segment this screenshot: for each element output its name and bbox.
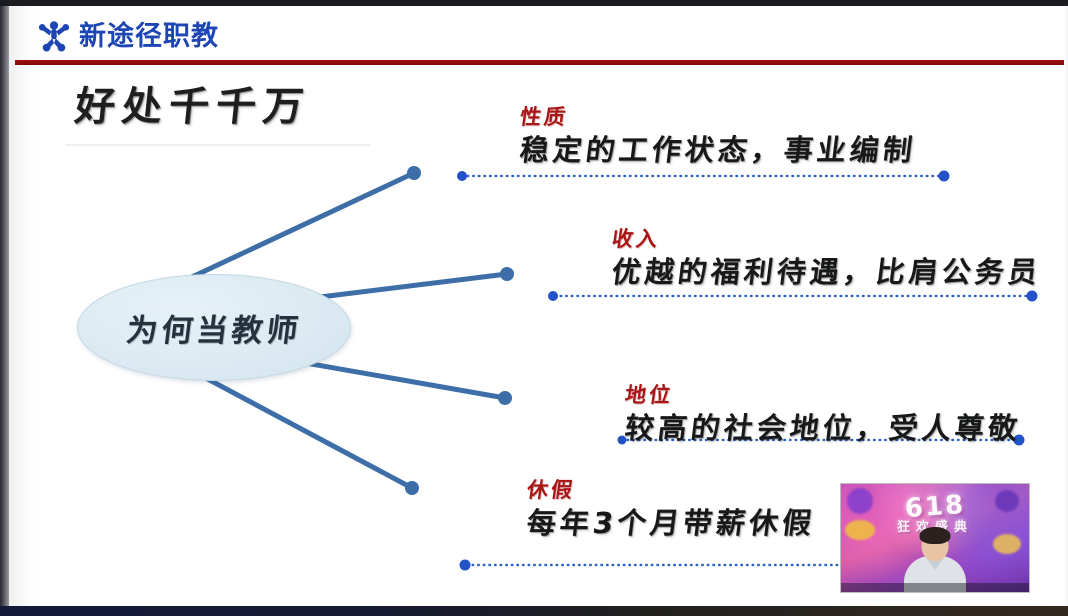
- presentation-screen: 新途径职教 好处千千万: [0, 0, 1068, 616]
- branch-item-2[interactable]: 收入 优越的福利待遇，比肩公务员: [612, 228, 1041, 290]
- slide-right-margin: [1064, 6, 1068, 606]
- dotted-cap-1-start: [457, 171, 467, 181]
- branch-line-4: [187, 368, 412, 488]
- branch-text-4: 每年3个月带薪休假: [525, 505, 818, 541]
- webcam-overlay[interactable]: 618 狂欢盛典: [840, 483, 1030, 593]
- branch-text-2: 优越的福利待遇，比肩公务员: [610, 254, 1043, 290]
- center-node-label: 为何当教师: [124, 305, 305, 350]
- branch-endpoint-4: [405, 481, 419, 495]
- branch-tag-1: 性质: [518, 106, 917, 129]
- window-bottom-edge: [0, 606, 1068, 616]
- dotted-cap-1-end: [939, 171, 950, 182]
- branch-text-3: 较高的社会地位，受人尊敬: [623, 410, 1023, 446]
- branch-tag-3: 地位: [623, 384, 1022, 407]
- slide-left-margin: [9, 6, 37, 606]
- window-left-edge: [0, 6, 9, 606]
- dotted-cap-2-end: [1027, 291, 1038, 302]
- dotted-cap-2-start: [548, 291, 558, 301]
- branch-endpoint-1: [407, 166, 421, 180]
- branch-endpoint-3: [498, 391, 512, 405]
- branch-item-4[interactable]: 休假 每年3个月带薪休假: [527, 479, 815, 541]
- branch-text-1: 稳定的工作状态，事业编制: [518, 132, 918, 168]
- webcam-desk: [841, 583, 1029, 592]
- decor-blob-3-icon: [993, 534, 1021, 554]
- branch-item-1[interactable]: 性质 稳定的工作状态，事业编制: [520, 106, 916, 168]
- mindmap-center-node[interactable]: 为何当教师: [77, 274, 351, 381]
- branch-item-3[interactable]: 地位 较高的社会地位，受人尊敬: [625, 384, 1021, 446]
- branch-tag-2: 收入: [610, 228, 1042, 251]
- dotted-cap-4-start: [460, 560, 471, 571]
- branch-tag-4: 休假: [525, 479, 816, 502]
- branch-endpoint-2: [500, 267, 514, 281]
- branch-line-1: [177, 173, 414, 284]
